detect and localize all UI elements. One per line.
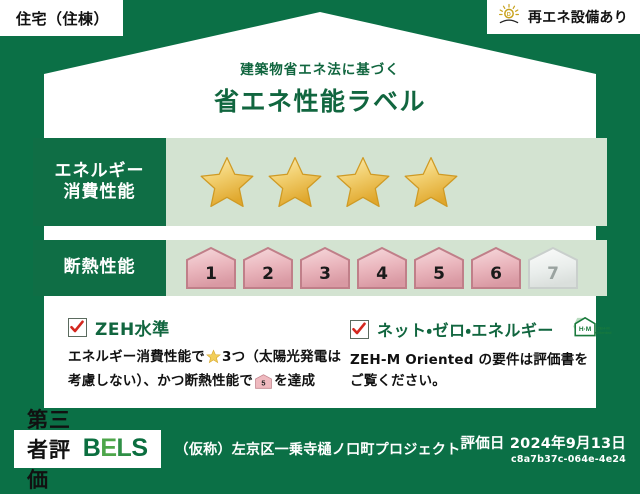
insulation-level-number: 4 bbox=[355, 264, 409, 284]
energy-performance-key: エネルギー 消費性能 bbox=[33, 138, 166, 226]
evaluation-info: 評価日 2024年9月13日 c8a7b37c-064e-4e24 bbox=[461, 432, 626, 465]
evaluation-id: c8a7b37c-064e-4e24 bbox=[461, 454, 626, 465]
star-icon bbox=[402, 154, 460, 210]
star-icon bbox=[266, 154, 324, 210]
project-name: （仮称）左京区一乗寺樋ノ口町プロジェクト bbox=[175, 439, 461, 459]
energy-performance-row: エネルギー 消費性能 bbox=[33, 138, 607, 226]
note-nze-header: ネット・ゼロ・エネルギー H·M ZEH-M Oriented bbox=[350, 315, 596, 343]
note-zeh-title: ZEH水準 bbox=[95, 315, 170, 340]
insulation-level-6: 6 bbox=[469, 246, 523, 290]
title-subtitle: 建築物省エネ法に基づく bbox=[0, 58, 640, 78]
sun-solar-icon: D bbox=[497, 3, 521, 31]
insulation-performance-value: 1234567 bbox=[166, 240, 607, 296]
insulation-level-number: 5 bbox=[412, 264, 466, 284]
evaluation-date-value: 2024年9月13日 bbox=[510, 436, 626, 452]
insulation-level-number: 3 bbox=[298, 264, 352, 284]
insulation-label-line1: 断熱性能 bbox=[64, 257, 136, 278]
note-zeh-text-1: エネルギー消費性能で bbox=[68, 349, 205, 365]
house-badge-icon-inline: 5 bbox=[255, 377, 272, 393]
title-main: 省エネ性能ラベル bbox=[0, 82, 640, 118]
insulation-performance-key: 断熱性能 bbox=[33, 240, 166, 296]
building-type-tag: 住宅（住棟） bbox=[0, 0, 123, 36]
insulation-level-3: 3 bbox=[298, 246, 352, 290]
energy-label-line1: エネルギー bbox=[55, 161, 145, 182]
label-title-block: 建築物省エネ法に基づく 省エネ性能ラベル bbox=[0, 58, 640, 118]
check-icon bbox=[68, 318, 87, 337]
insulation-level-number: 1 bbox=[184, 264, 238, 284]
insulation-level-scale: 1234567 bbox=[166, 246, 580, 290]
energy-label-line2: 消費性能 bbox=[64, 182, 136, 203]
svg-text:H·M: H·M bbox=[579, 326, 592, 333]
note-zeh-body: エネルギー消費性能で3つ（太陽光発電は考慮しない）、かつ断熱性能で5を達成 bbox=[68, 347, 344, 396]
star-icon bbox=[334, 154, 392, 210]
insulation-level-number: 6 bbox=[469, 264, 523, 284]
star-icon-inline bbox=[206, 352, 221, 368]
note-nze-body: ZEH-M Oriented の要件は評価書をご覧ください。 bbox=[350, 350, 596, 392]
note-zeh-header: ZEH水準 bbox=[68, 315, 344, 340]
note-nze-title: ネット・ゼロ・エネルギー bbox=[377, 317, 554, 341]
note-zeh-text-3: を達成 bbox=[274, 373, 315, 389]
renewable-energy-label: 再エネ設備あり bbox=[528, 7, 628, 27]
evaluation-date: 評価日 2024年9月13日 bbox=[461, 432, 626, 453]
svg-text:Oriented: Oriented bbox=[595, 330, 612, 335]
bels-letter-e: E bbox=[100, 434, 116, 462]
bels-letter-l: L bbox=[117, 434, 132, 462]
insulation-level-4: 4 bbox=[355, 246, 409, 290]
insulation-level-2: 2 bbox=[241, 246, 295, 290]
svg-text:D: D bbox=[507, 12, 511, 18]
notes-section: ZEH水準 エネルギー消費性能で3つ（太陽光発電は考慮しない）、かつ断熱性能で5… bbox=[44, 315, 596, 410]
renewable-energy-tag: D 再エネ設備あり bbox=[487, 0, 640, 34]
note-net-zero-energy: ネット・ゼロ・エネルギー H·M ZEH-M Oriented ZEH-M Or… bbox=[344, 315, 596, 410]
insulation-performance-row: 断熱性能 1234567 bbox=[33, 240, 607, 296]
insulation-level-1: 1 bbox=[184, 246, 238, 290]
bels-letter-b: B bbox=[83, 434, 101, 462]
star-rating bbox=[166, 154, 460, 210]
star-icon bbox=[198, 154, 256, 210]
evaluation-date-label: 評価日 bbox=[461, 436, 505, 452]
third-party-label: 第三者評価 bbox=[27, 404, 74, 494]
bels-logo: BELS bbox=[83, 434, 148, 463]
zeh-m-oriented-logo: H·M ZEH-M Oriented bbox=[568, 315, 614, 343]
building-type-label: 住宅（住棟） bbox=[16, 8, 109, 29]
bels-badge: 第三者評価 BELS bbox=[14, 430, 161, 468]
note-zeh-standard: ZEH水準 エネルギー消費性能で3つ（太陽光発電は考慮しない）、かつ断熱性能で5… bbox=[44, 315, 344, 410]
insulation-level-5: 5 bbox=[412, 246, 466, 290]
energy-performance-value bbox=[166, 138, 607, 226]
energy-performance-label: 住宅（住棟） D 再エネ設備あり 建築物省エネ法に基づ bbox=[0, 0, 640, 477]
footer-bar: 第三者評価 BELS （仮称）左京区一乗寺樋ノ口町プロジェクト 評価日 2024… bbox=[0, 420, 640, 477]
insulation-level-number: 2 bbox=[241, 264, 295, 284]
check-icon bbox=[350, 320, 369, 339]
insulation-level-7: 7 bbox=[526, 246, 580, 290]
svg-text:5: 5 bbox=[261, 378, 265, 387]
bels-letter-s: S bbox=[131, 434, 147, 462]
insulation-level-number: 7 bbox=[526, 264, 580, 284]
